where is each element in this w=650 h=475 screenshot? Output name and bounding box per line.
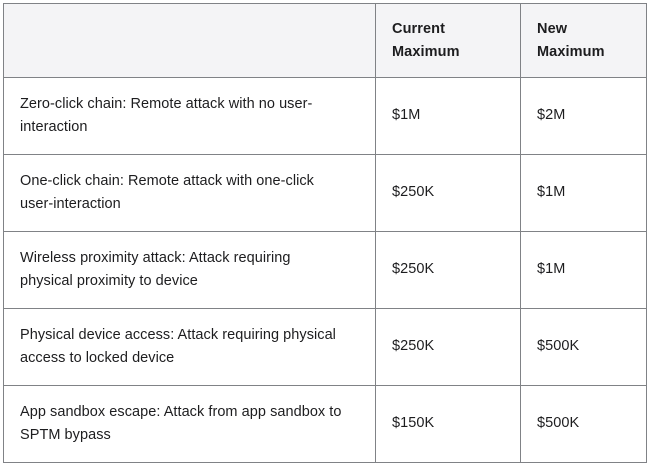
cell-new-maximum: $2M bbox=[521, 78, 647, 155]
table-row: Zero-click chain: Remote attack with no … bbox=[4, 78, 647, 155]
cell-current-maximum: $250K bbox=[376, 309, 521, 386]
column-header-new-maximum-line1: New bbox=[537, 18, 630, 40]
cell-current-maximum: $250K bbox=[376, 232, 521, 309]
table-row: One-click chain: Remote attack with one-… bbox=[4, 155, 647, 232]
table-header-row: Current Maximum New Maximum bbox=[4, 4, 647, 78]
cell-current-maximum: $1M bbox=[376, 78, 521, 155]
table-row: Physical device access: Attack requiring… bbox=[4, 309, 647, 386]
cell-new-maximum: $1M bbox=[521, 232, 647, 309]
column-header-current-maximum-line2: Maximum bbox=[392, 41, 504, 63]
cell-new-maximum: $500K bbox=[521, 386, 647, 463]
cell-category: Zero-click chain: Remote attack with no … bbox=[4, 78, 376, 155]
column-header-new-maximum-line2: Maximum bbox=[537, 41, 630, 63]
cell-category: App sandbox escape: Attack from app sand… bbox=[4, 386, 376, 463]
security-bounty-maximums-table: Current Maximum New Maximum Zero-click c… bbox=[3, 3, 647, 463]
table-row: Wireless proximity attack: Attack requir… bbox=[4, 232, 647, 309]
table-body: Zero-click chain: Remote attack with no … bbox=[4, 78, 647, 463]
table-container: Current Maximum New Maximum Zero-click c… bbox=[3, 3, 646, 462]
cell-new-maximum: $500K bbox=[521, 309, 647, 386]
cell-current-maximum: $250K bbox=[376, 155, 521, 232]
cell-category: One-click chain: Remote attack with one-… bbox=[4, 155, 376, 232]
cell-current-maximum: $150K bbox=[376, 386, 521, 463]
column-header-category bbox=[4, 4, 376, 78]
cell-new-maximum: $1M bbox=[521, 155, 647, 232]
table-header: Current Maximum New Maximum bbox=[4, 4, 647, 78]
column-header-current-maximum-line1: Current bbox=[392, 18, 504, 40]
table-row: App sandbox escape: Attack from app sand… bbox=[4, 386, 647, 463]
cell-category: Physical device access: Attack requiring… bbox=[4, 309, 376, 386]
column-header-current-maximum: Current Maximum bbox=[376, 4, 521, 78]
cell-category: Wireless proximity attack: Attack requir… bbox=[4, 232, 376, 309]
column-header-new-maximum: New Maximum bbox=[521, 4, 647, 78]
